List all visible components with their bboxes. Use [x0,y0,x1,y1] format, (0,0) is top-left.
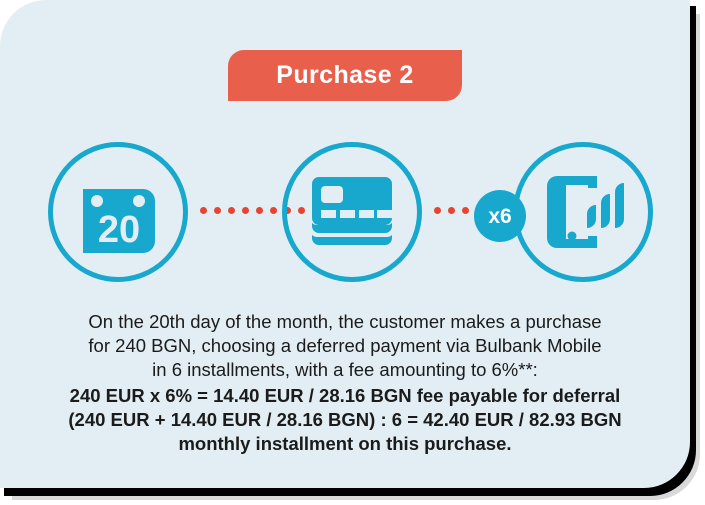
infographic-card-stage: Purchase 2 20 [0,0,705,505]
step-card-ring [282,142,422,282]
description-line: for 240 BGN, choosing a deferred payment… [30,334,660,358]
description-regular: On the 20th day of the month, the custom… [30,310,660,382]
calculation-line: (240 EUR + 14.40 EUR / 28.16 BGN) : 6 = … [30,408,660,432]
infographic-card: Purchase 2 20 [0,0,690,488]
dot [256,207,263,214]
dot [228,207,235,214]
dot [242,207,249,214]
installments-multiplier-badge: x6 [474,190,526,242]
step-calendar-ring: 20 [48,142,188,282]
dot [448,207,455,214]
steps-row: 20 [0,138,690,286]
dot [462,207,469,214]
description-line: in 6 installments, with a fee amounting … [30,358,660,382]
calendar-icon: 20 [75,169,161,255]
dot [434,207,441,214]
description-bold: 240 EUR x 6% = 14.40 EUR / 28.16 BGN fee… [30,384,660,456]
calculation-line: monthly installment on this purchase. [30,432,660,456]
calculation-line: 240 EUR x 6% = 14.40 EUR / 28.16 BGN fee… [30,384,660,408]
purchase-title-label: Purchase 2 [276,63,413,88]
description-block: On the 20th day of the month, the custom… [30,310,660,456]
dot [214,207,221,214]
dot [270,207,277,214]
description-line: On the 20th day of the month, the custom… [30,310,660,334]
dot [200,207,207,214]
calendar-day-number: 20 [98,209,140,251]
mobile-phone-icon [535,164,631,260]
purchase-title-badge: Purchase 2 [228,50,462,101]
credit-card-icon [306,171,398,253]
installments-multiplier-label: x6 [488,206,511,227]
step-phone-ring [513,142,653,282]
